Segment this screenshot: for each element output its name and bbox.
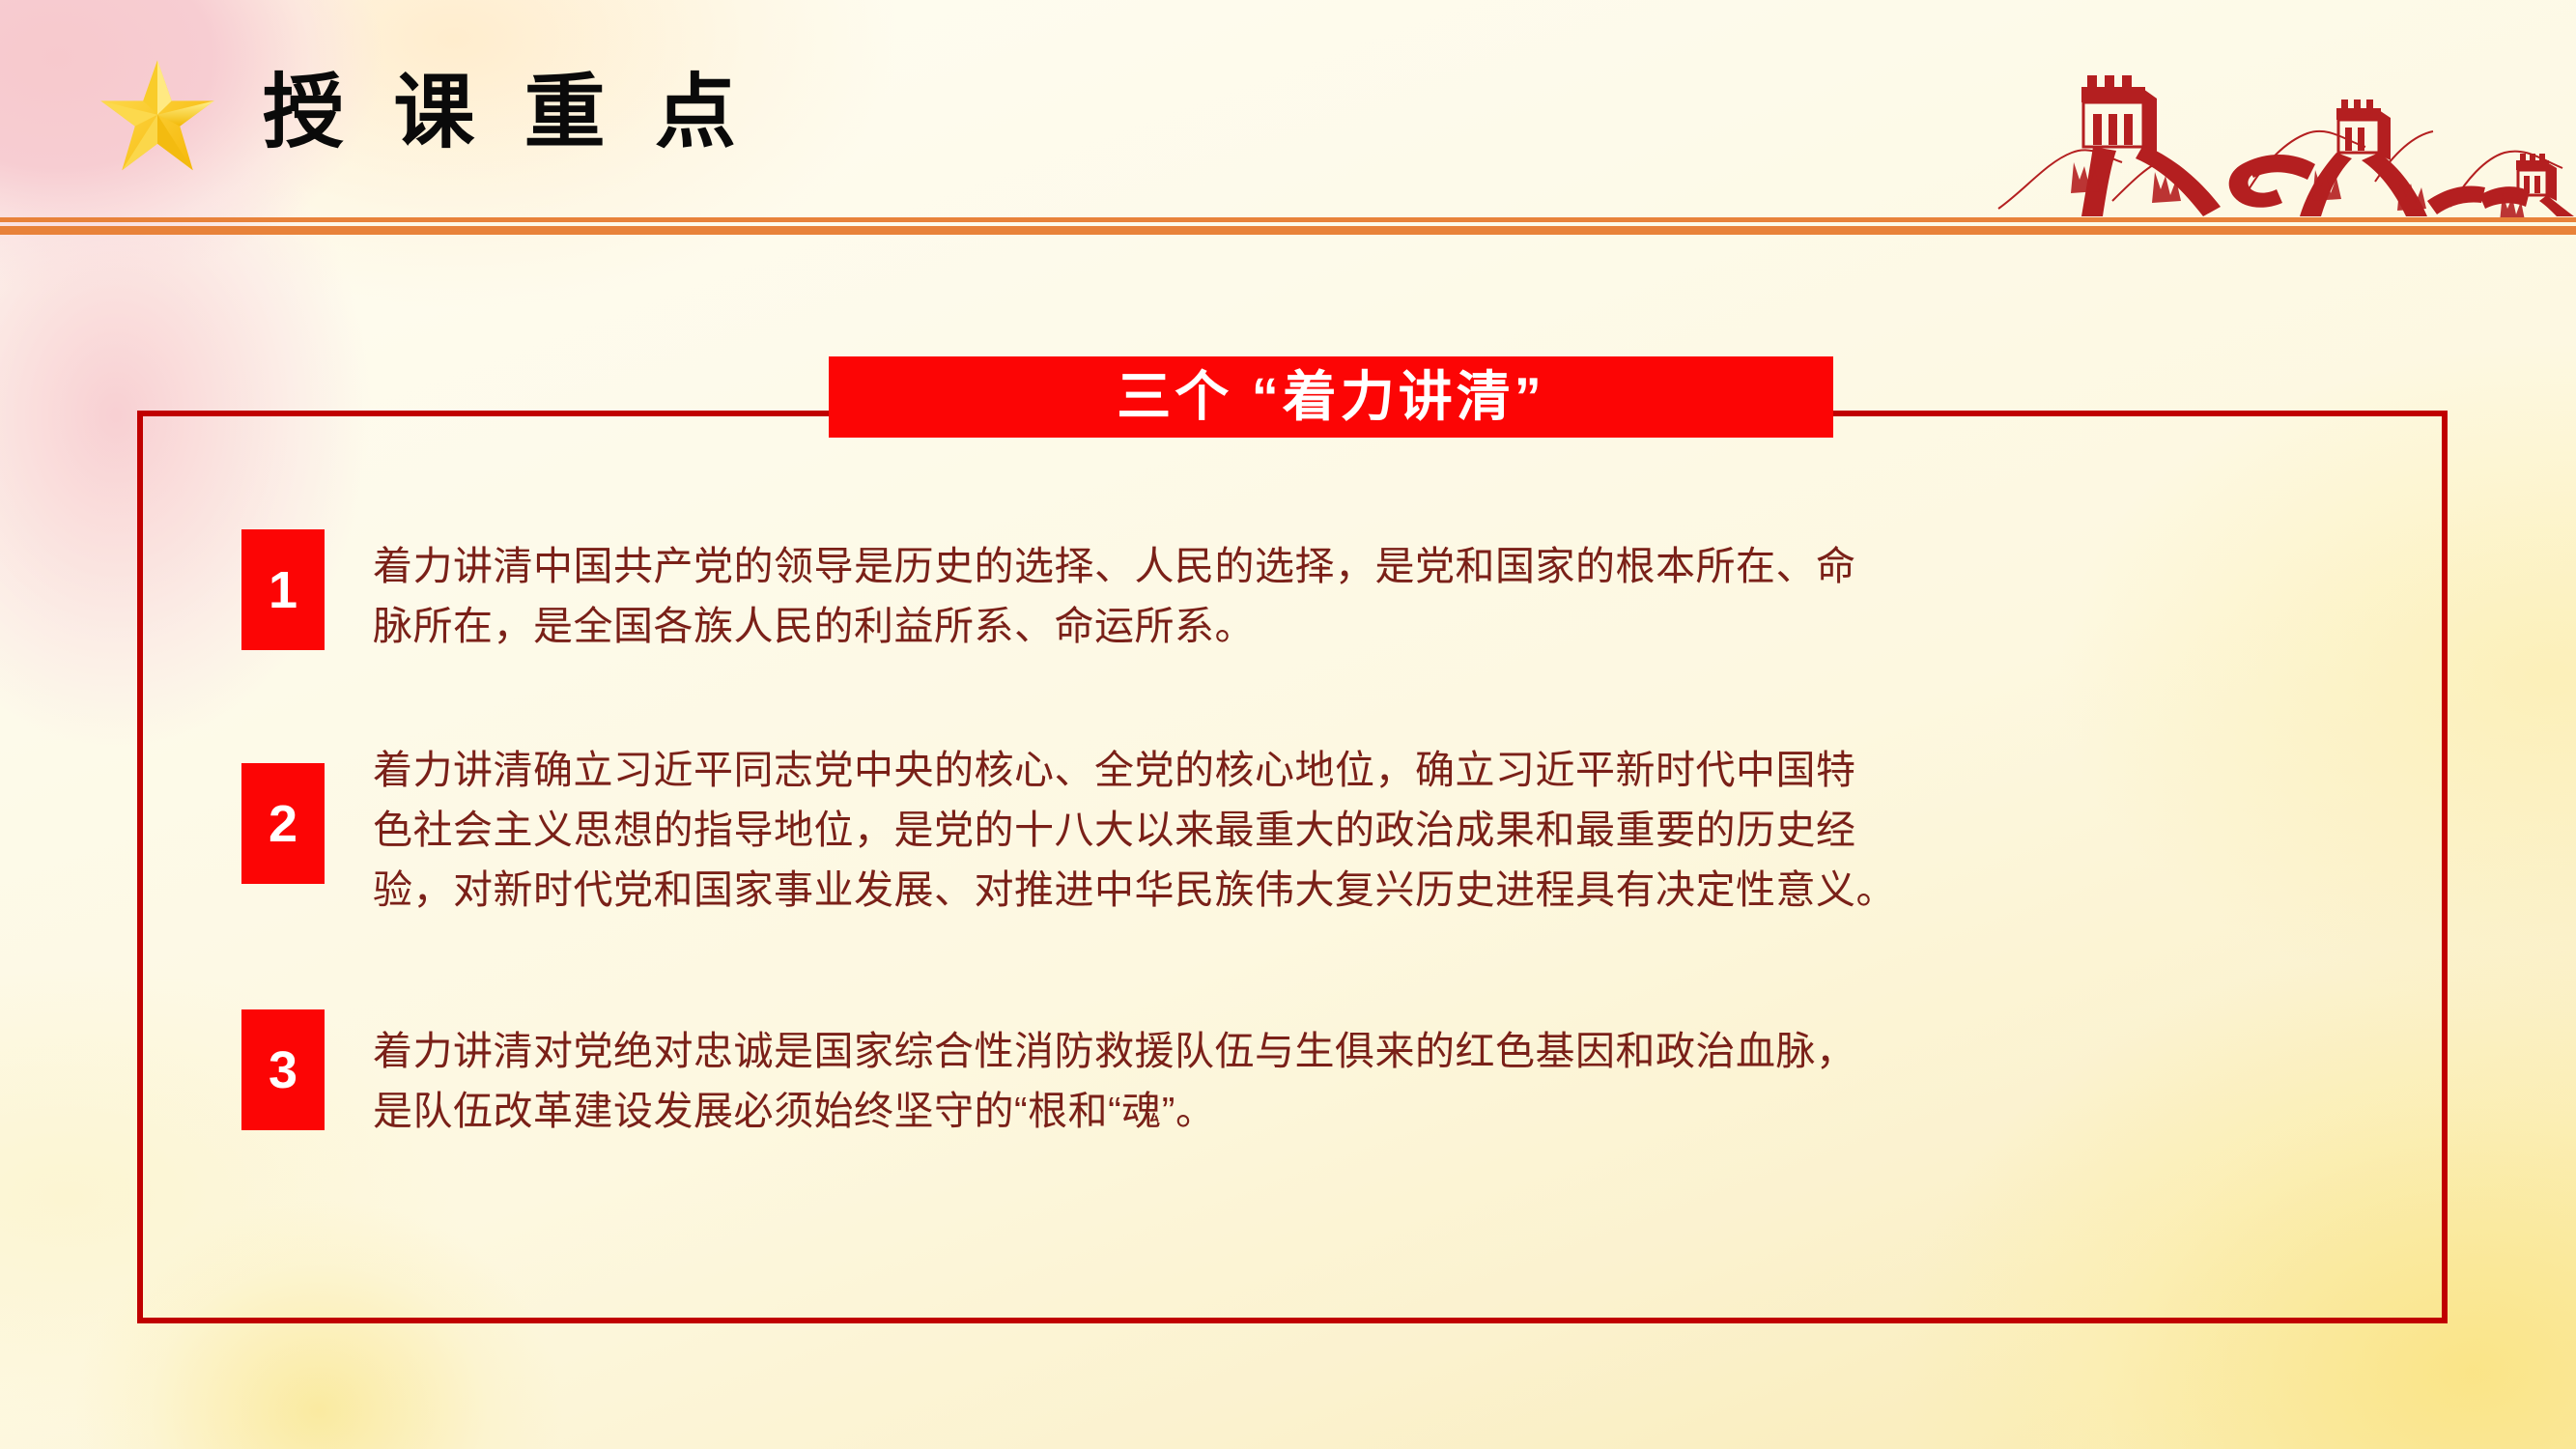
slide-header: 授 课 重 点 bbox=[0, 0, 2576, 218]
section-banner-label: 三个 “着力讲清” bbox=[1117, 370, 1545, 424]
item-text: 着力讲清中国共产党的领导是历史的选择、人民的选择，是党和国家的根本所在、命 脉所… bbox=[373, 536, 2363, 656]
item-number-badge: 1 bbox=[241, 529, 325, 650]
slide: 授 课 重 点 bbox=[0, 0, 2576, 1449]
header-divider-thick bbox=[0, 226, 2576, 235]
list-item: 2 着力讲清确立习近平同志党中央的核心、全党的核心地位，确立习近平新时代中国特 … bbox=[241, 763, 2440, 920]
points-list: 1 着力讲清中国共产党的领导是历史的选择、人民的选择，是党和国家的根本所在、命 … bbox=[137, 411, 2448, 1323]
item-text: 着力讲清确立习近平同志党中央的核心、全党的核心地位，确立习近平新时代中国特 色社… bbox=[373, 740, 2440, 920]
header-divider-thin bbox=[0, 217, 2576, 222]
item-number-badge: 2 bbox=[241, 763, 325, 884]
list-item: 1 着力讲清中国共产党的领导是历史的选择、人民的选择，是党和国家的根本所在、命 … bbox=[241, 529, 2363, 656]
gold-star-icon bbox=[97, 58, 218, 174]
list-item: 3 着力讲清对党绝对忠诚是国家综合性消防救援队伍与生俱来的红色基因和政治血脉， … bbox=[241, 1009, 2363, 1141]
great-wall-icon bbox=[1996, 17, 2576, 220]
page-title: 授 课 重 点 bbox=[263, 54, 750, 170]
item-text: 着力讲清对党绝对忠诚是国家综合性消防救援队伍与生俱来的红色基因和政治血脉， 是队… bbox=[373, 1021, 2363, 1141]
item-number-badge: 3 bbox=[241, 1009, 325, 1130]
section-banner: 三个 “着力讲清” bbox=[829, 356, 1833, 438]
